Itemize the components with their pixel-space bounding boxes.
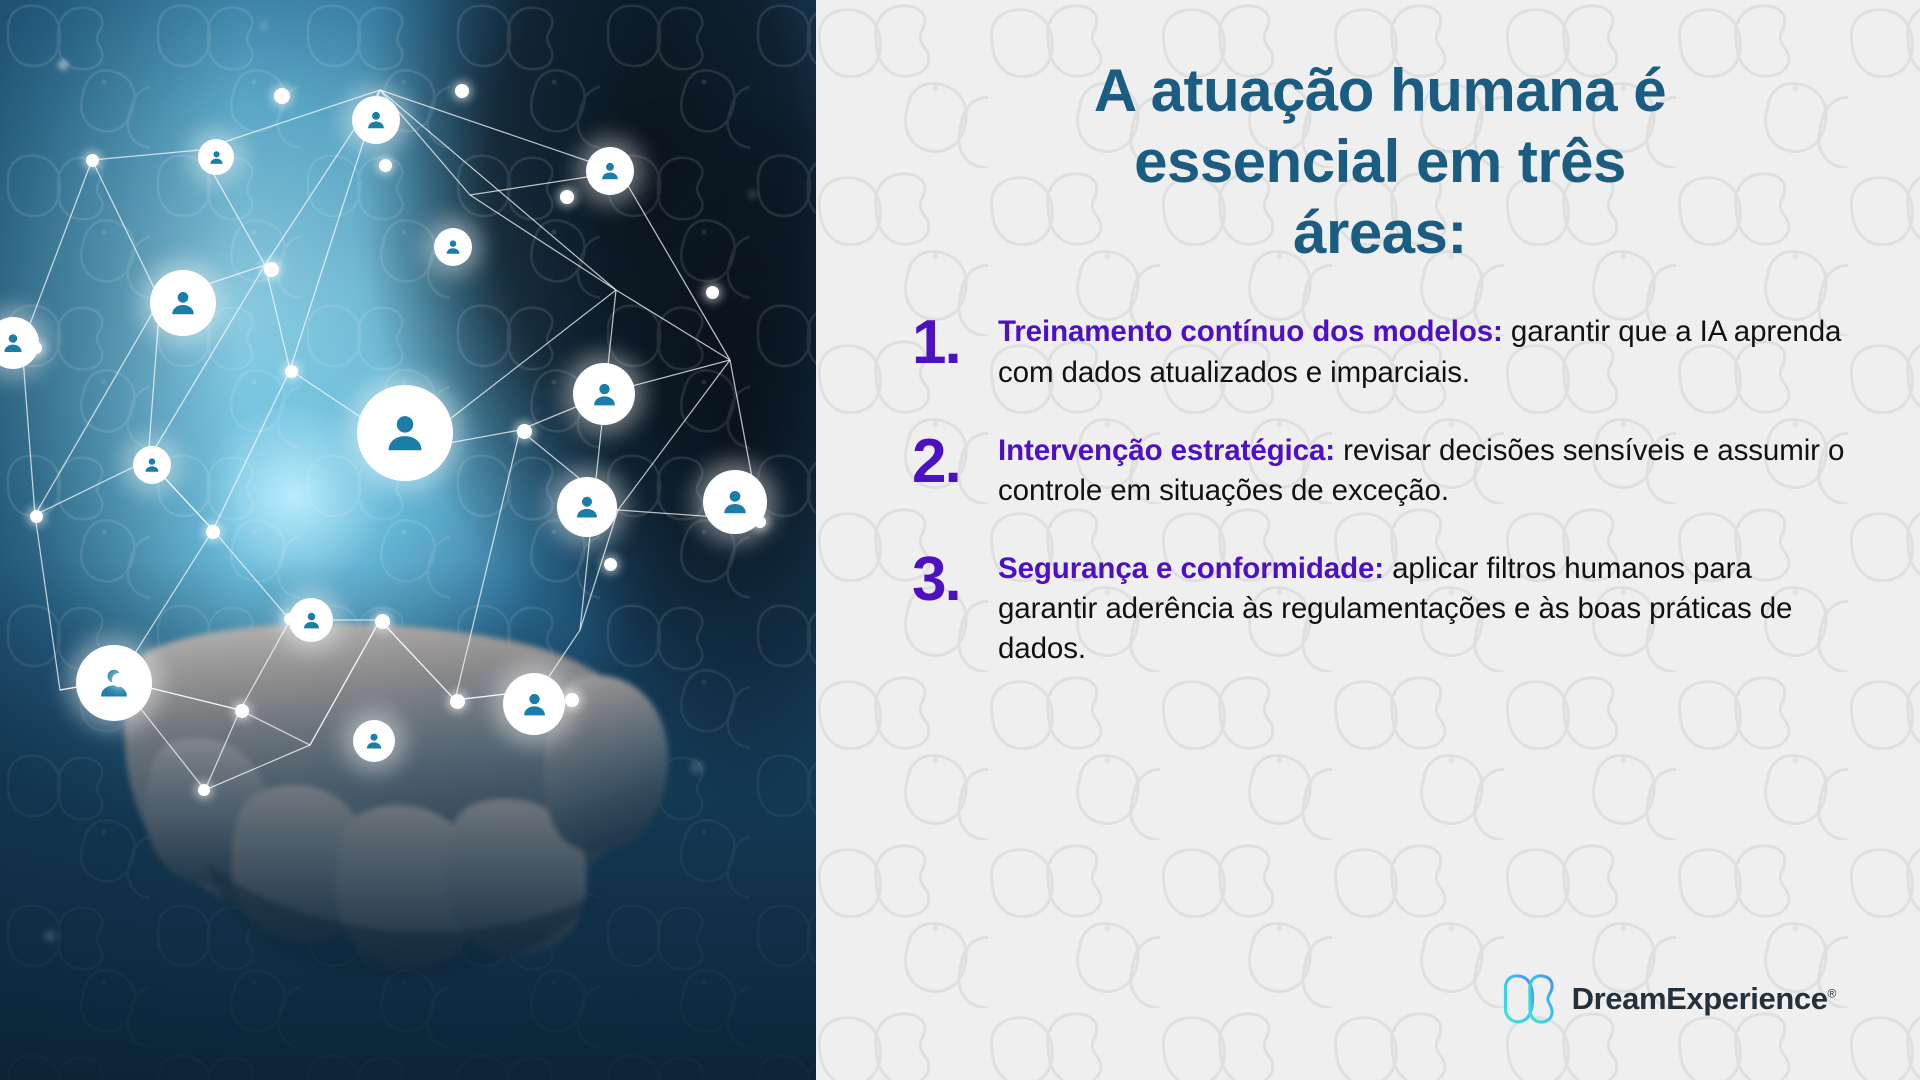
list-item-number: 2. xyxy=(912,431,998,492)
list-item-text: Segurança e conformidade: aplicar filtro… xyxy=(998,549,1848,669)
network-node-person xyxy=(357,385,453,481)
person-icon xyxy=(364,731,384,751)
slide-root: A atuação humana é essencial em três áre… xyxy=(0,0,1920,1080)
network-node-person xyxy=(573,363,635,425)
brand-logo: DreamExperience® xyxy=(1500,970,1836,1028)
title-line-3: áreas: xyxy=(952,198,1808,269)
network-node-person xyxy=(503,673,565,735)
network-graph xyxy=(0,0,816,1080)
person-icon xyxy=(301,610,322,631)
network-node-person xyxy=(133,446,171,484)
list-item-heading: Segurança e conformidade: xyxy=(998,552,1384,585)
person-icon xyxy=(520,690,549,719)
content-panel: A atuação humana é essencial em três áre… xyxy=(816,0,1920,1080)
network-node-person xyxy=(352,96,400,144)
numbered-list: 1. Treinamento contínuo dos modelos: gar… xyxy=(912,312,1848,669)
list-item-number: 1. xyxy=(912,312,998,373)
list-item-heading: Treinamento contínuo dos modelos: xyxy=(998,315,1503,348)
page-title: A atuação humana é essencial em três áre… xyxy=(912,56,1848,268)
network-node-person xyxy=(557,477,617,537)
network-node-person xyxy=(586,147,634,195)
network-node-person xyxy=(353,720,395,762)
brand-name: DreamExperience® xyxy=(1572,981,1836,1017)
list-item: 1. Treinamento contínuo dos modelos: gar… xyxy=(912,312,1848,392)
list-item-text: Treinamento contínuo dos modelos: garant… xyxy=(998,312,1848,392)
title-line-1: A atuação humana é xyxy=(952,56,1808,127)
person-icon xyxy=(590,380,619,409)
list-item-text: Intervenção estratégica: revisar decisõe… xyxy=(998,431,1848,511)
hero-photo-panel xyxy=(0,0,816,1080)
list-item: 2. Intervenção estratégica: revisar deci… xyxy=(912,431,1848,511)
person-icon xyxy=(720,487,750,517)
list-item-heading: Intervenção estratégica: xyxy=(998,434,1335,467)
person-icon xyxy=(444,238,462,256)
network-node-person xyxy=(198,139,234,175)
registered-trademark-symbol: ® xyxy=(1828,987,1836,1001)
person-icon xyxy=(143,456,161,474)
person-icon xyxy=(382,410,428,456)
person-icon xyxy=(1,331,25,355)
person-icon xyxy=(168,288,198,318)
brand-name-text: DreamExperience xyxy=(1572,981,1828,1016)
person-icon xyxy=(599,160,621,182)
title-line-2: essencial em três xyxy=(952,127,1808,198)
dreamexperience-mark-icon xyxy=(1500,970,1558,1028)
person-icon xyxy=(365,109,387,131)
network-node-person xyxy=(434,228,472,266)
person-icon xyxy=(208,149,225,166)
list-item: 3. Segurança e conformidade: aplicar fil… xyxy=(912,549,1848,669)
network-node-person xyxy=(150,270,216,336)
list-item-number: 3. xyxy=(912,549,998,610)
person-icon xyxy=(573,493,601,521)
